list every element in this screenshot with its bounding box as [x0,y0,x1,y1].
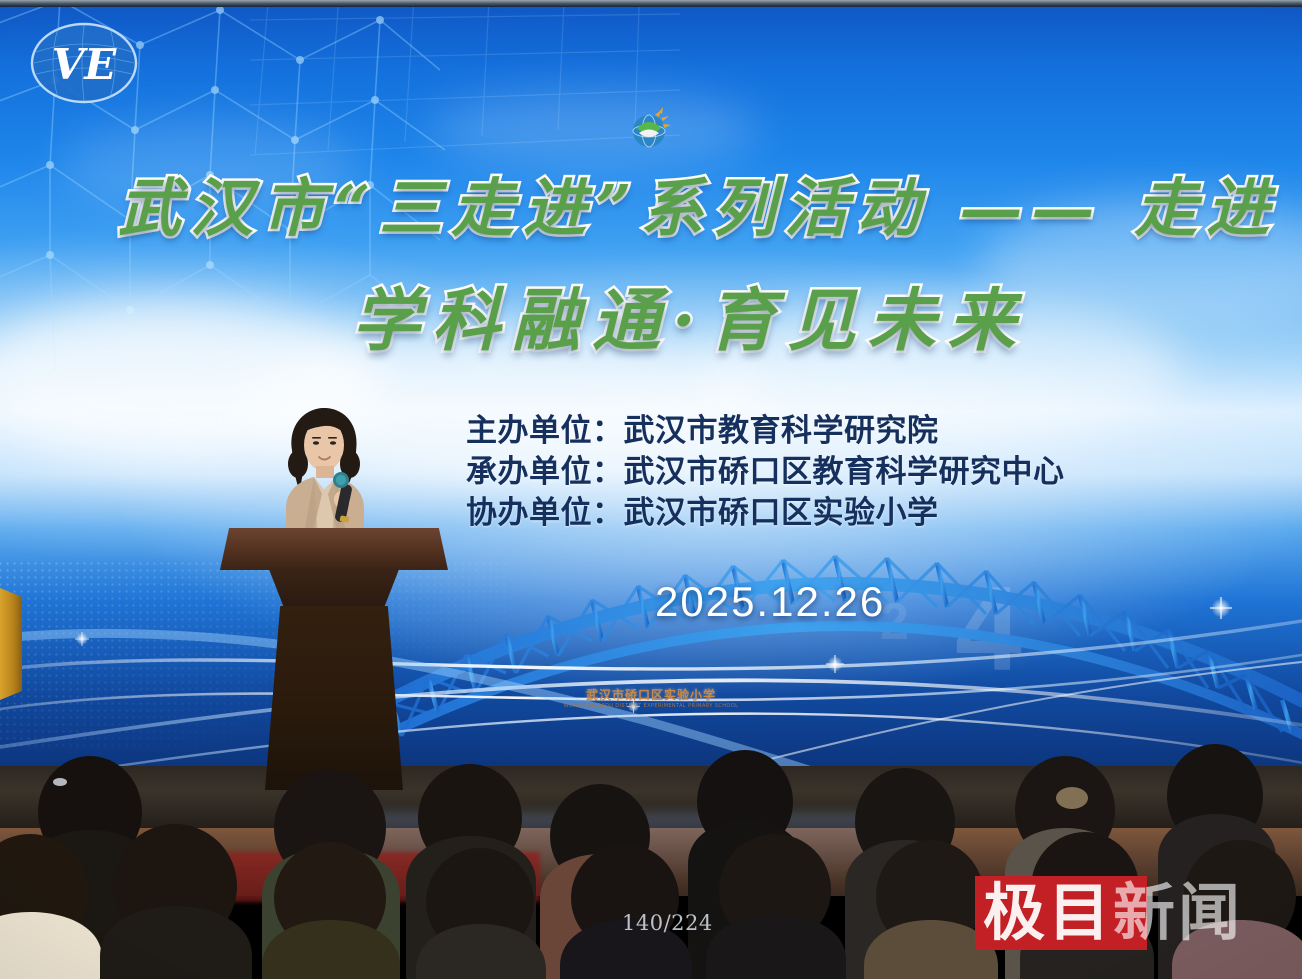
svg-text:VE: VE [52,40,118,89]
watermark-text-part1: 极目 [983,876,1113,949]
banner-headline-line-2: 学科融通·育见未来 [352,265,1252,364]
school-emblem-icon [628,106,674,152]
podium-neck [256,568,412,608]
screenshot-root: 4 2 [0,0,1302,979]
banner-headline-line-1: 武汉市“三走进”系列活动 —— 走进 [118,158,1302,249]
event-date: 2025.12.26 [655,578,885,626]
ve-oval-logo-icon: VE [30,22,138,104]
gold-banner-edge [0,588,22,700]
organizer-block: 主办单位：武汉市教育科学研究院 承办单位：武汉市硚口区教育科学研究中心 协办单位… [466,411,1065,535]
sparkle-icon [1210,597,1232,619]
screen-bezel [0,0,1302,7]
sparkle-icon [826,655,844,673]
watermark-text: 极目新闻 [983,878,1293,948]
organizer-coorg-line: 协办单位：武汉市硚口区实验小学 [466,493,1065,534]
page-counter: 140/224 [622,911,713,935]
organizer-host-line: 主办单位：武汉市教育科学研究院 [466,411,1065,452]
podium-top-surface [220,528,448,570]
speaker-figure [262,404,386,544]
watermark-text-part2: 新闻 [1113,876,1243,949]
sparkle-icon [75,632,89,646]
watermark-jimu-news: 极目新闻 [975,872,1293,954]
organizer-operator-line: 承办单位：武汉市硚口区教育科学研究中心 [466,452,1065,493]
